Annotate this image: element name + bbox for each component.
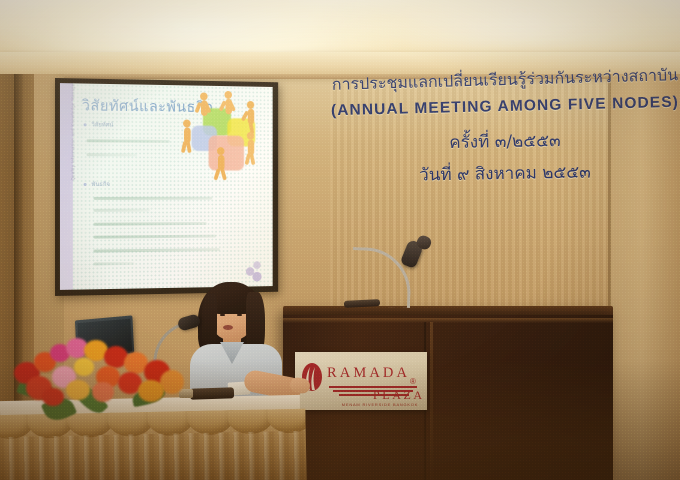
slide-body-line: [87, 153, 138, 156]
puzzle-piece-salmon: [209, 135, 244, 170]
floor-shadow: [0, 360, 680, 480]
slide-bullet-1: วิสัยทัศน์: [91, 119, 113, 129]
speaker-mouth: [223, 325, 233, 330]
event-banner: การประชุมแลกเปลี่ยนเรียนรู้ร่วมกันระหว่า…: [330, 62, 680, 212]
projection-screen: Quality Information and Knowledge Manage…: [55, 78, 278, 296]
banner-session-line: ครั้งที่ ๓/๒๕๕๓: [330, 125, 680, 158]
ceiling-light-glow-right: [330, 0, 680, 50]
presentation-slide: Quality Information and Knowledge Manage…: [60, 83, 273, 290]
banner-thai-title: การประชุมแลกเปลี่ยนเรียนรู้ร่วมกันระหว่า…: [330, 63, 680, 98]
banner-date-line: วันที่ ๙ สิงหาคม ๒๕๕๓: [330, 157, 680, 190]
slide-teamwork-artwork: [175, 90, 269, 180]
projection-screen-surface: Quality Information and Knowledge Manage…: [60, 83, 273, 290]
slide-sidebar-label: Quality Information and Knowledge Manage…: [70, 103, 75, 181]
slide-bullet-2: พันธกิจ: [91, 179, 109, 189]
slide-body-line: [93, 197, 212, 200]
podium-lip: [283, 318, 613, 323]
slide-body-line: [93, 209, 149, 212]
conference-photo: การประชุมแลกเปลี่ยนเรียนรู้ร่วมกันระหว่า…: [0, 0, 680, 480]
slide-sidebar: Quality Information and Knowledge Manage…: [60, 83, 73, 290]
banner-english-title: (ANNUAL MEETING AMONG FIVE NODES): [330, 94, 680, 121]
